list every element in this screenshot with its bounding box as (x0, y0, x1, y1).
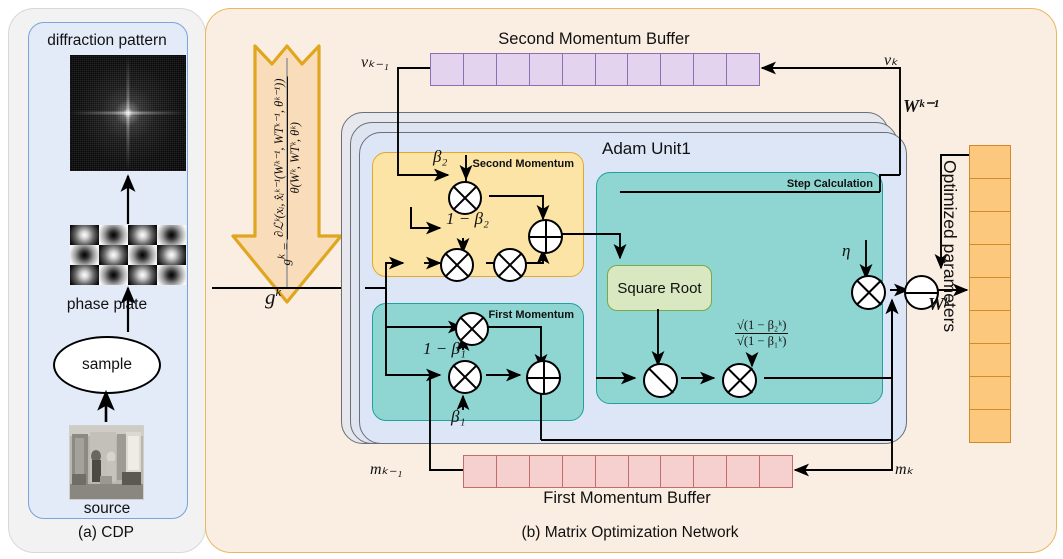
multiply-op-onebeta2 (493, 248, 527, 282)
first-buffer-label: First Momentum Buffer (463, 489, 791, 508)
learning-rate-label: η (842, 241, 850, 261)
bias-correction-fraction: √(1 − β₂ᵏ) √(1 − β₁ᵏ) (735, 318, 788, 349)
one-minus-beta1-label: 1 − β₁ (423, 339, 466, 359)
v-prev-label: vₖ₋₁ (361, 52, 389, 72)
m-prev-label: mₖ₋₁ (370, 459, 402, 479)
divide-op-step (643, 363, 678, 398)
beta2-label: β₂ (433, 147, 447, 167)
multiply-op-learning-rate (851, 275, 886, 310)
figure-root: diffraction pattern phase plate sample (0, 0, 1063, 559)
second-momentum-buffer[interactable] (430, 53, 760, 86)
add-op-second-momentum (528, 219, 563, 254)
first-momentum-buffer[interactable] (463, 455, 793, 488)
panel-b-caption: (b) Matrix Optimization Network (205, 524, 1055, 542)
second-buffer-label: Second Momentum Buffer (430, 30, 758, 49)
beta1-label: β₁ (451, 407, 465, 427)
one-minus-beta2-label: 1 − β₂ (446, 209, 489, 229)
v-curr-label: vₖ (884, 50, 898, 70)
weight-curr-label: Wᵏ (928, 294, 949, 315)
add-op-first-momentum (526, 360, 561, 395)
weight-prev-label: Wᵏ⁻¹ (903, 96, 939, 117)
m-curr-label: mₖ (895, 459, 913, 479)
multiply-op-bias-correction (722, 363, 757, 398)
bias-correction-denominator: √(1 − β₁ᵏ) (735, 334, 788, 349)
bias-correction-numerator: √(1 − β₂ᵏ) (735, 318, 788, 334)
multiply-op-grad-a (440, 248, 474, 282)
multiply-op-beta1 (448, 360, 482, 394)
optimized-parameters-column[interactable] (969, 145, 1011, 443)
